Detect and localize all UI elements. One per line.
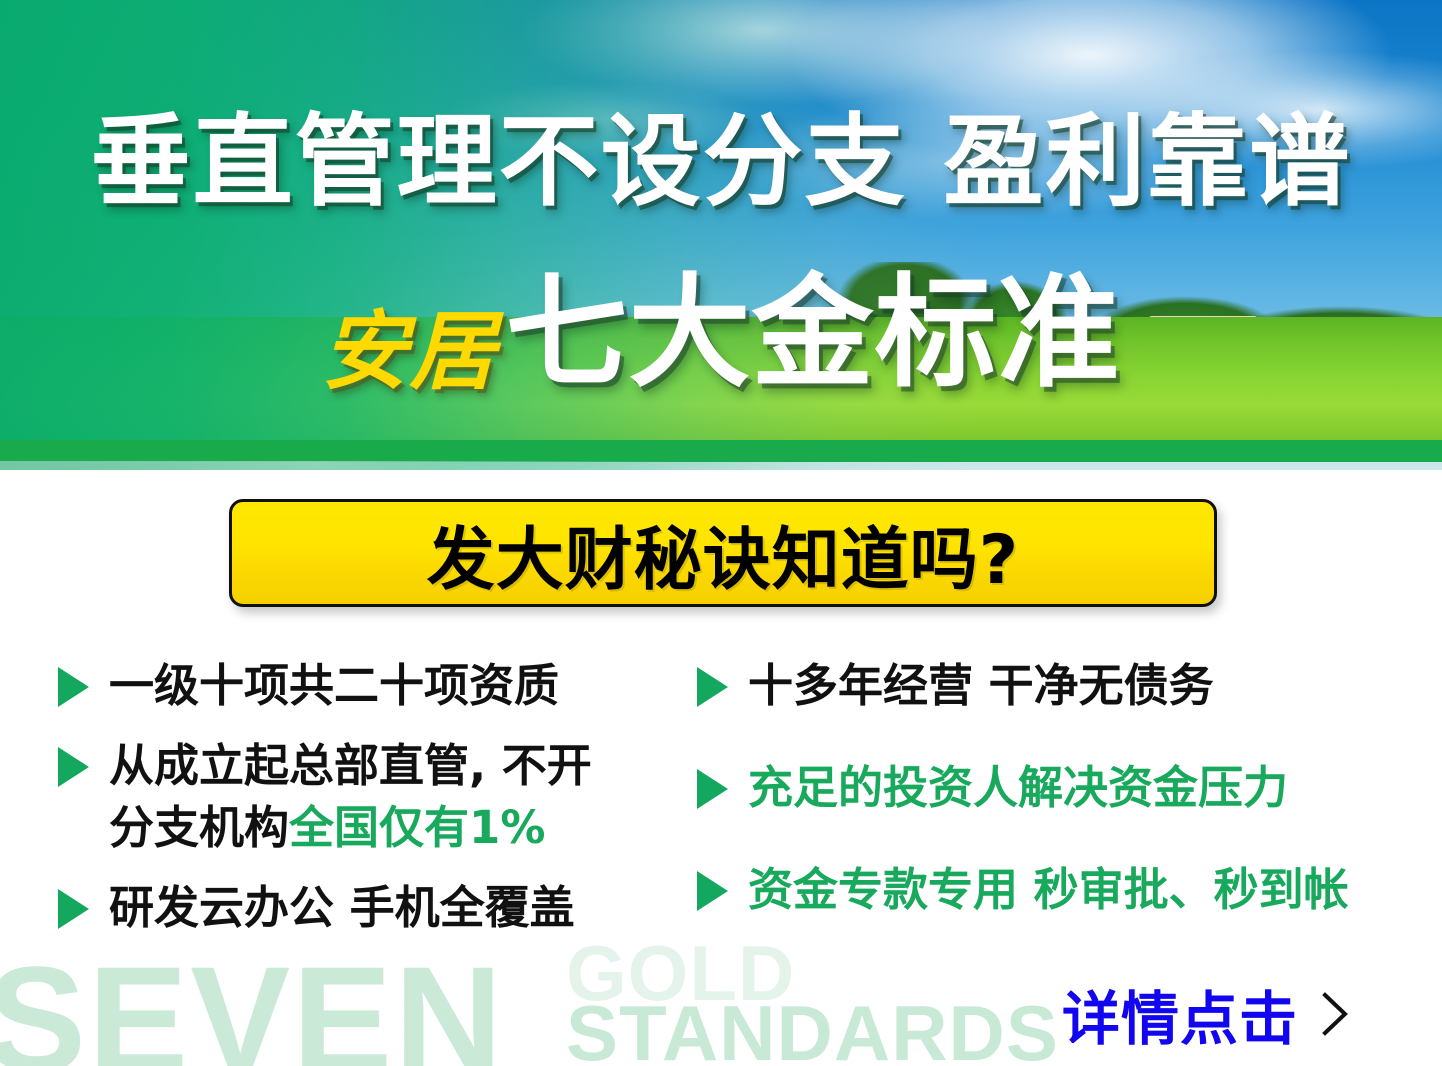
feature-item: 从成立起总部直管, 不开分支机构全国仅有1% bbox=[58, 735, 698, 859]
triangle-bullet-icon bbox=[697, 667, 728, 707]
feature-list: 一级十项共二十项资质 从成立起总部直管, 不开分支机构全国仅有1% 研发云办公 … bbox=[0, 655, 1442, 985]
triangle-bullet-icon bbox=[697, 769, 728, 809]
feature-text-line1: 从成立起总部直管, 不开 bbox=[109, 739, 592, 792]
feature-item: 一级十项共二十项资质 bbox=[58, 655, 698, 717]
feature-item: 研发云办公 手机全覆盖 bbox=[58, 877, 698, 939]
triangle-bullet-icon bbox=[58, 889, 89, 929]
hero-section: 垂直管理不设分支 盈利靠谱 安居七大金标准 bbox=[0, 0, 1442, 470]
chevron-right-icon bbox=[1320, 991, 1350, 1037]
hero-bottom-fade bbox=[0, 461, 1442, 470]
feature-item: 充足的投资人解决资金压力 bbox=[697, 757, 1417, 819]
detail-link-label: 详情点击 bbox=[1062, 972, 1298, 1056]
triangle-bullet-icon bbox=[58, 747, 89, 787]
feature-text-highlight: 全国仅有1% bbox=[289, 801, 545, 854]
feature-item: 资金专款专用 秒审批、秒到帐 bbox=[697, 859, 1417, 921]
detail-link[interactable]: 详情点击 bbox=[1062, 972, 1350, 1056]
hero-headline-secondary: 安居七大金标准 bbox=[0, 272, 1442, 395]
watermark-standards-text: STANDARDS bbox=[566, 994, 1059, 1066]
feature-text: 一级十项共二十项资质 bbox=[109, 655, 559, 717]
hero-headline-kicker: 安居 bbox=[322, 309, 498, 395]
feature-text-line2-prefix: 分支机构 bbox=[109, 801, 289, 854]
hero-headline-primary: 垂直管理不设分支 盈利靠谱 bbox=[0, 112, 1442, 212]
feature-text: 研发云办公 手机全覆盖 bbox=[109, 877, 575, 939]
feature-text: 从成立起总部直管, 不开分支机构全国仅有1% bbox=[109, 735, 592, 859]
feature-item: 十多年经营 干净无债务 bbox=[697, 655, 1417, 717]
feature-text: 十多年经营 干净无债务 bbox=[748, 655, 1214, 717]
feature-text: 资金专款专用 秒审批、秒到帐 bbox=[748, 859, 1349, 921]
hero-bottom-green-band bbox=[0, 440, 1442, 462]
triangle-bullet-icon bbox=[58, 667, 89, 707]
hero-headline-main: 七大金标准 bbox=[506, 272, 1121, 394]
feature-column-left: 一级十项共二十项资质 从成立起总部直管, 不开分支机构全国仅有1% 研发云办公 … bbox=[58, 655, 698, 965]
promo-banner-label: 发大财秘诀知道吗? bbox=[427, 504, 1019, 603]
feature-column-right: 十多年经营 干净无债务 充足的投资人解决资金压力 资金专款专用 秒审批、秒到帐 bbox=[697, 655, 1417, 947]
advertisement-banner: 垂直管理不设分支 盈利靠谱 安居七大金标准 发大财秘诀知道吗? 一级十项共二十项… bbox=[0, 0, 1442, 1066]
promo-banner-button[interactable]: 发大财秘诀知道吗? bbox=[229, 499, 1217, 607]
triangle-bullet-icon bbox=[697, 871, 728, 911]
feature-text: 充足的投资人解决资金压力 bbox=[748, 757, 1288, 819]
